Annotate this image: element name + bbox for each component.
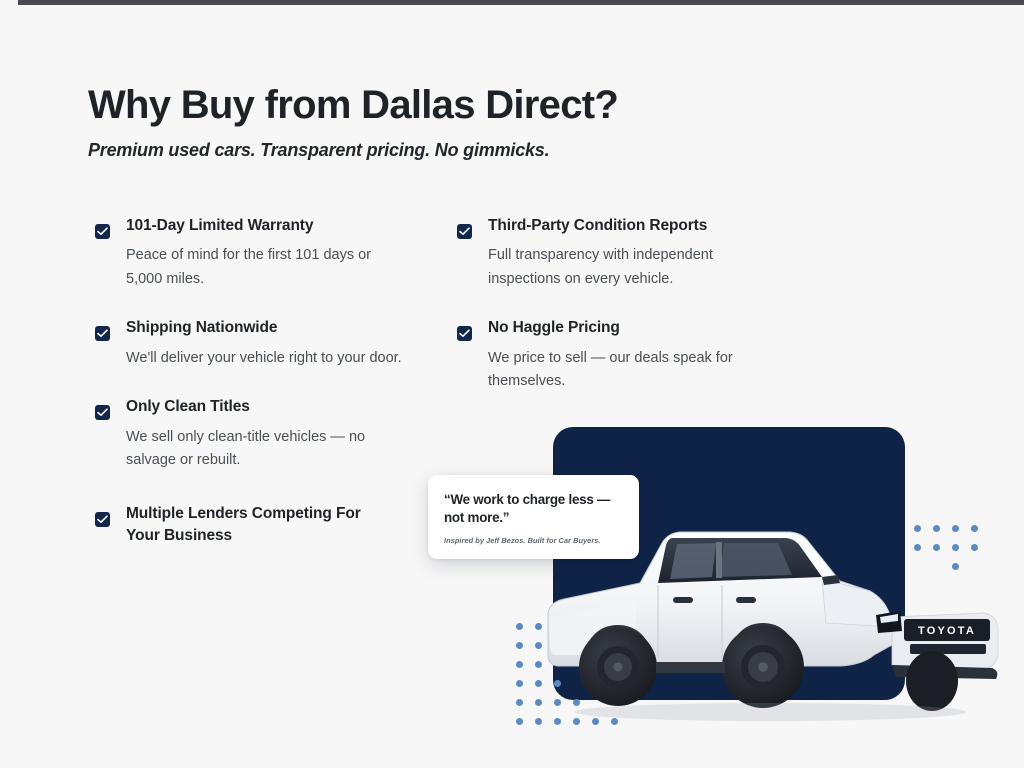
feature-title: Shipping Nationwide	[126, 317, 408, 339]
quote-card: “We work to charge less — not more.” Ins…	[428, 475, 639, 559]
svg-text:TOYOTA: TOYOTA	[918, 625, 976, 637]
feature-item: No Haggle Pricing We price to sell — our…	[450, 317, 770, 393]
checkbox-checked-icon	[95, 326, 110, 341]
feature-item: Only Clean Titles We sell only clean-tit…	[88, 396, 408, 472]
feature-title: Only Clean Titles	[126, 396, 408, 418]
page-canvas: Why Buy from Dallas Direct? Premium used…	[0, 5, 1024, 768]
feature-description: We sell only clean-title vehicles — no s…	[126, 426, 408, 473]
page-title: Why Buy from Dallas Direct?	[88, 83, 888, 128]
feature-description: Full transparency with independent inspe…	[488, 244, 770, 291]
feature-column-right: Third-Party Condition Reports Full trans…	[450, 215, 770, 420]
feature-column-left: 101-Day Limited Warranty Peace of mind f…	[88, 215, 408, 574]
feature-item: Shipping Nationwide We'll deliver your v…	[88, 317, 408, 370]
checkbox-checked-icon	[95, 405, 110, 420]
quote-attribution: Inspired by Jeff Bezos. Built for Car Bu…	[444, 536, 625, 545]
checkbox-checked-icon	[95, 224, 110, 239]
feature-title: 101-Day Limited Warranty	[126, 215, 408, 237]
feature-item: Multiple Lenders Competing For Your Busi…	[88, 503, 408, 548]
page-subtitle: Premium used cars. Transparent pricing. …	[88, 140, 888, 161]
checkbox-checked-icon	[457, 224, 472, 239]
feature-title: Third-Party Condition Reports	[488, 215, 770, 237]
feature-description: Peace of mind for the first 101 days or …	[126, 244, 408, 291]
feature-item: Third-Party Condition Reports Full trans…	[450, 215, 770, 291]
feature-title: Multiple Lenders Competing For Your Busi…	[126, 503, 384, 548]
checkbox-checked-icon	[457, 326, 472, 341]
quote-text: “We work to charge less — not more.”	[444, 491, 625, 527]
feature-title: No Haggle Pricing	[488, 317, 770, 339]
checkbox-checked-icon	[95, 512, 110, 527]
feature-item: 101-Day Limited Warranty Peace of mind f…	[88, 215, 408, 291]
feature-description: We price to sell — our deals speak for t…	[488, 347, 770, 394]
feature-description: We'll deliver your vehicle right to your…	[126, 347, 408, 370]
heading-block: Why Buy from Dallas Direct? Premium used…	[88, 83, 888, 161]
hero-visual: TOYOTA	[420, 410, 1024, 750]
